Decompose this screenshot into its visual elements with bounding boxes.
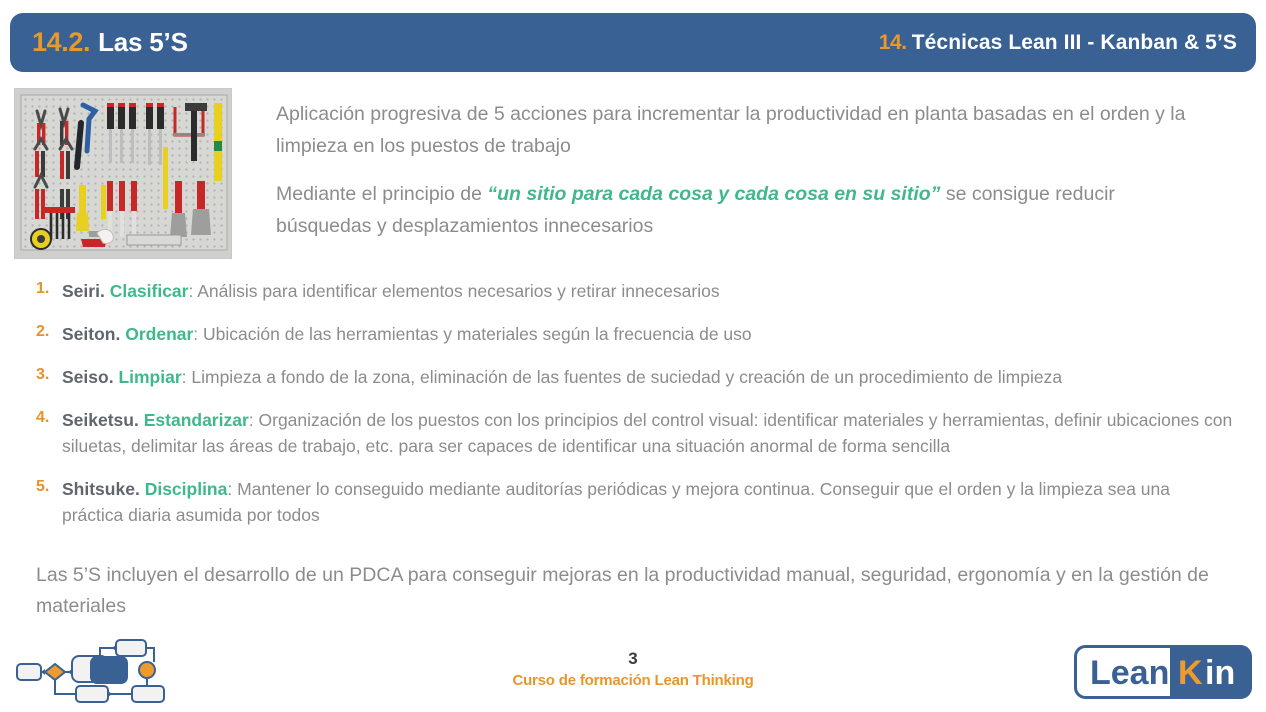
intro-paragraph-1: Aplicación progresiva de 5 acciones para… — [276, 98, 1206, 162]
flow-icon-svg — [14, 638, 174, 706]
list-item-term: Seiri. — [62, 281, 105, 301]
list-item-number: 3. — [36, 364, 62, 390]
chapter-title: Técnicas Lean III - Kanban & 5’S — [912, 31, 1237, 55]
list-item-translation: Clasificar — [110, 281, 189, 301]
list-item-number: 4. — [36, 407, 62, 459]
list-item-number: 2. — [36, 321, 62, 347]
list-item-term: Seiketsu. — [62, 410, 139, 430]
list-item: 3. Seiso. Limpiar: Limpieza a fondo de l… — [36, 364, 1236, 390]
list-item-term: Seiso. — [62, 367, 114, 387]
logo-text-k: K — [1178, 654, 1203, 692]
pegboard-illustration — [15, 89, 232, 259]
chapter-number: 14. — [879, 31, 907, 55]
list-item-number: 1. — [36, 278, 62, 304]
leankin-logo-svg: Lean K in — [1074, 645, 1252, 699]
list-item-translation: Limpiar — [118, 367, 181, 387]
logo-text-lean: Lean — [1090, 654, 1169, 692]
list-item-description: : Mantener lo conseguido mediante audito… — [62, 479, 1170, 525]
intro-paragraph-2: Mediante el principio de “un sitio para … — [276, 178, 1206, 242]
tool-shadow-board-photo — [14, 88, 232, 259]
list-item: 5. Shitsuke. Disciplina: Mantener lo con… — [36, 476, 1236, 528]
list-item: 2. Seiton. Ordenar: Ubicación de las her… — [36, 321, 1236, 347]
list-item: 4. Seiketsu. Estandarizar: Organización … — [36, 407, 1236, 459]
list-item-description: : Limpieza a fondo de la zona, eliminaci… — [182, 367, 1062, 387]
header-right-title: 14. Técnicas Lean III - Kanban & 5’S — [879, 31, 1237, 55]
list-item-translation: Disciplina — [145, 479, 228, 499]
list-item-term: Shitsuke. — [62, 479, 140, 499]
slide: 14.2. Las 5’S 14. Técnicas Lean III - Ka… — [0, 0, 1266, 712]
list-item-body: Seiso. Limpiar: Limpieza a fondo de la z… — [62, 364, 1236, 390]
list-item-term: Seiton. — [62, 324, 120, 344]
list-item-translation: Estandarizar — [144, 410, 249, 430]
slide-header-bar: 14.2. Las 5’S 14. Técnicas Lean III - Ka… — [10, 13, 1256, 72]
list-item-body: Seiri. Clasificar: Análisis para identif… — [62, 278, 1236, 304]
list-item: 1. Seiri. Clasificar: Análisis para iden… — [36, 278, 1236, 304]
list-item-body: Seiketsu. Estandarizar: Organización de … — [62, 407, 1236, 459]
five-s-list: 1. Seiri. Clasificar: Análisis para iden… — [36, 278, 1236, 545]
intro-text-block: Aplicación progresiva de 5 acciones para… — [276, 98, 1206, 242]
header-left-title: 14.2. Las 5’S — [32, 27, 188, 58]
page-title: Las 5’S — [98, 27, 188, 58]
list-item-description: : Análisis para identificar elementos ne… — [188, 281, 719, 301]
intro-p2-before: Mediante el principio de — [276, 183, 487, 205]
section-number: 14.2. — [32, 27, 90, 58]
process-flow-diagram-icon — [14, 638, 174, 706]
list-item-description: : Ubicación de las herramientas y materi… — [193, 324, 751, 344]
intro-quote: “un sitio para cada cosa y cada cosa en … — [487, 183, 940, 205]
list-item-body: Seiton. Ordenar: Ubicación de las herram… — [62, 321, 1236, 347]
closing-paragraph: Las 5’S incluyen el desarrollo de un PDC… — [36, 560, 1246, 622]
logo-text-in: in — [1205, 654, 1235, 692]
list-item-body: Shitsuke. Disciplina: Mantener lo conseg… — [62, 476, 1236, 528]
list-item-number: 5. — [36, 476, 62, 528]
leankin-logo: Lean K in — [1074, 645, 1252, 699]
list-item-translation: Ordenar — [125, 324, 193, 344]
